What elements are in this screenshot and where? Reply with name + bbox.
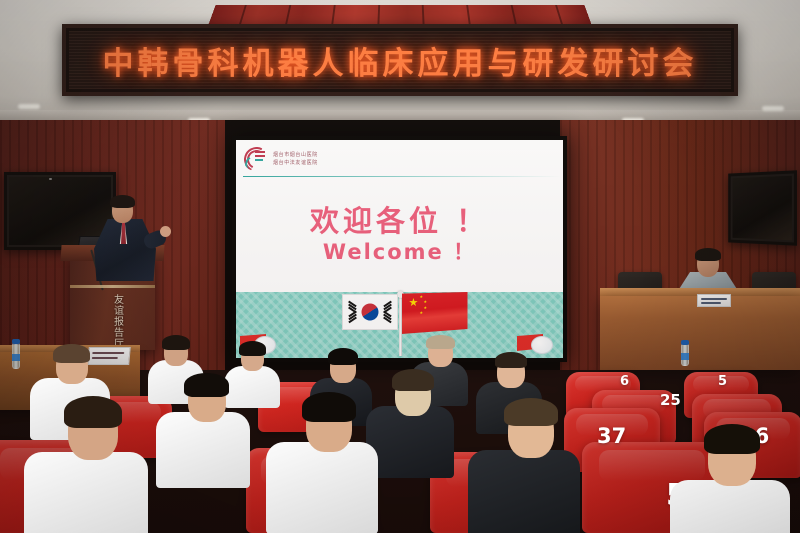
slide-divider — [243, 176, 561, 177]
slide-headline-cn: 欢迎各位 ！ — [236, 198, 563, 240]
flagpole — [399, 296, 402, 356]
seat-number: 6 — [620, 374, 629, 389]
seat-number: 37 — [597, 424, 626, 448]
bottle-cap — [12, 339, 20, 344]
conference-photo: 中韩骨科机器人临床应用与研发研讨会 烟台市烟台山医院 — [0, 0, 800, 533]
seat-number: 25 — [660, 391, 681, 409]
hospital-logo-mark — [243, 146, 268, 171]
presentation-slide: 烟台市烟台山医院 烟台中法友谊医院 欢迎各位 ！ Welcome ！ — [236, 140, 563, 358]
led-banner-text: 中韩骨科机器人临床应用与研发研讨会 — [103, 38, 698, 83]
wall-monitor-right — [728, 170, 797, 245]
slide-logo: 烟台市烟台山医院 烟台中法友谊医院 — [243, 146, 318, 171]
podium-venue-text: 友谊报告厅 — [114, 295, 132, 350]
water-bottle — [12, 343, 20, 369]
speaker-hand — [160, 226, 171, 237]
speaker-hair — [110, 195, 135, 208]
bottle-cap — [681, 340, 689, 345]
hospital-name-line2: 烟台中法友谊医院 — [273, 159, 318, 166]
projection-screen: 烟台市烟台山医院 烟台中法友谊医院 欢迎各位 ！ Welcome ！ — [232, 136, 567, 362]
decorative-flag-right-icon — [517, 330, 559, 358]
led-banner: 中韩骨科机器人临床应用与研发研讨会 — [62, 24, 738, 96]
seat-number: 5 — [718, 374, 727, 389]
ceiling-light — [762, 106, 784, 111]
slide-headline-en: Welcome ！ — [236, 236, 563, 266]
podium-trim — [70, 285, 155, 288]
name-placard — [697, 294, 731, 307]
panel-table — [600, 296, 800, 370]
panelist-hair — [695, 248, 721, 261]
china-flag-icon: ★ ★ ★ ★ ★ — [402, 292, 468, 334]
hospital-name-line1: 烟台市烟台山医院 — [273, 151, 318, 158]
slide-teal-band: ★ ★ ★ ★ ★ — [236, 292, 563, 358]
name-placard — [87, 347, 131, 365]
south-korea-flag-icon — [342, 294, 398, 330]
ceiling-light — [18, 104, 40, 109]
water-bottle — [681, 344, 689, 366]
